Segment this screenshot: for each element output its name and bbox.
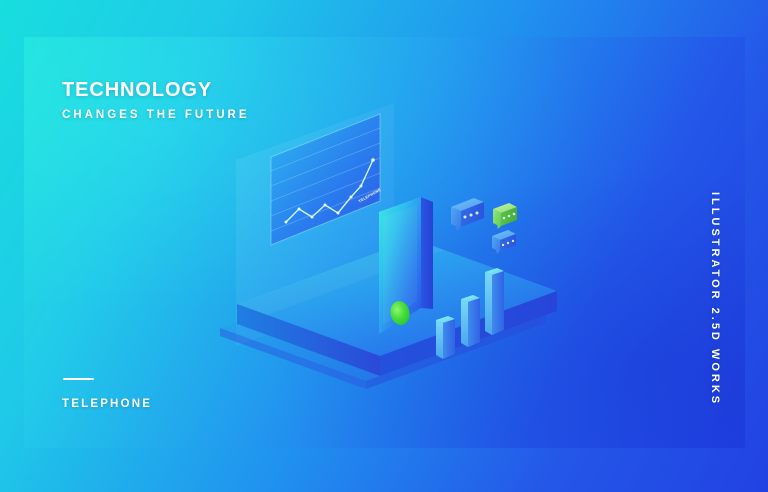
- chat-bubble-green: [493, 203, 517, 229]
- bar-3: [485, 268, 504, 335]
- page-title: TECHNOLOGY: [62, 79, 212, 102]
- chat-bubble-small: [492, 230, 516, 254]
- footer-label: TELEPHONE: [62, 398, 152, 410]
- chat-bubble-large: [451, 198, 484, 231]
- divider-rule: [63, 378, 94, 380]
- bar-1: [436, 316, 455, 359]
- vertical-label: ILLUSTRATOR 2.5D WORKS: [709, 192, 721, 406]
- bar-2: [461, 295, 480, 347]
- banner-card: TELEPHONE TECHNOLOGY CHANGES THE FUTURE …: [24, 37, 745, 448]
- page-subtitle: CHANGES THE FUTURE: [62, 109, 250, 121]
